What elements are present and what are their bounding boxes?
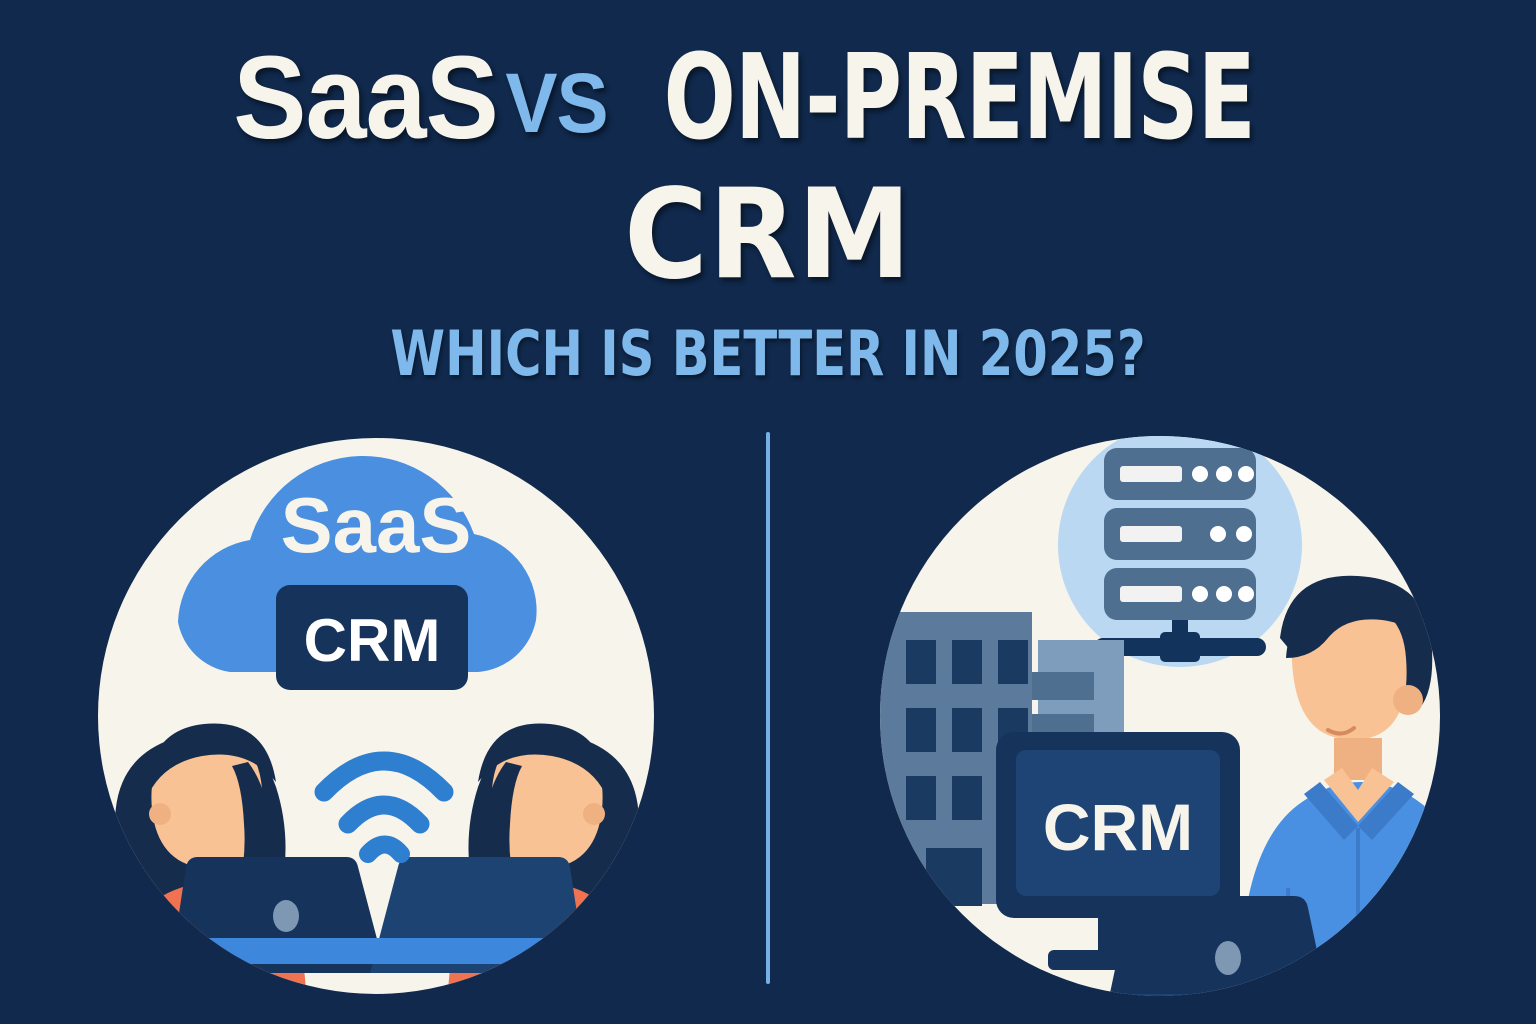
laptop-logo-right: [1215, 941, 1241, 975]
title-crm: CRM: [61, 173, 1474, 297]
title-line-1: SaaSVSON-PREMISE: [54, 38, 1482, 157]
infographic-poster: SaaSVSON-PREMISE CRM WHICH IS BETTER IN …: [0, 0, 1536, 1024]
saas-panel: SaaS CRM: [0, 400, 768, 1024]
monitor-label: CRM: [1043, 790, 1193, 864]
on-premise-panel: CRM: [768, 400, 1536, 1024]
laptop-logo-left: [273, 900, 299, 932]
crm-badge-label: CRM: [304, 607, 441, 674]
desk-bar: [8, 938, 760, 964]
title-saas: SaaS: [233, 32, 498, 164]
cloud-label: SaaS: [281, 481, 472, 569]
title-vs: VS: [498, 56, 615, 150]
headline-block: SaaSVSON-PREMISE CRM WHICH IS BETTER IN …: [0, 38, 1536, 385]
laptop-icon-right: [1106, 896, 1342, 1012]
subtitle: WHICH IS BETTER IN 2025?: [154, 323, 1383, 385]
title-on-premise: ON-PREMISE: [663, 38, 1254, 156]
crm-badge: CRM: [276, 585, 468, 690]
